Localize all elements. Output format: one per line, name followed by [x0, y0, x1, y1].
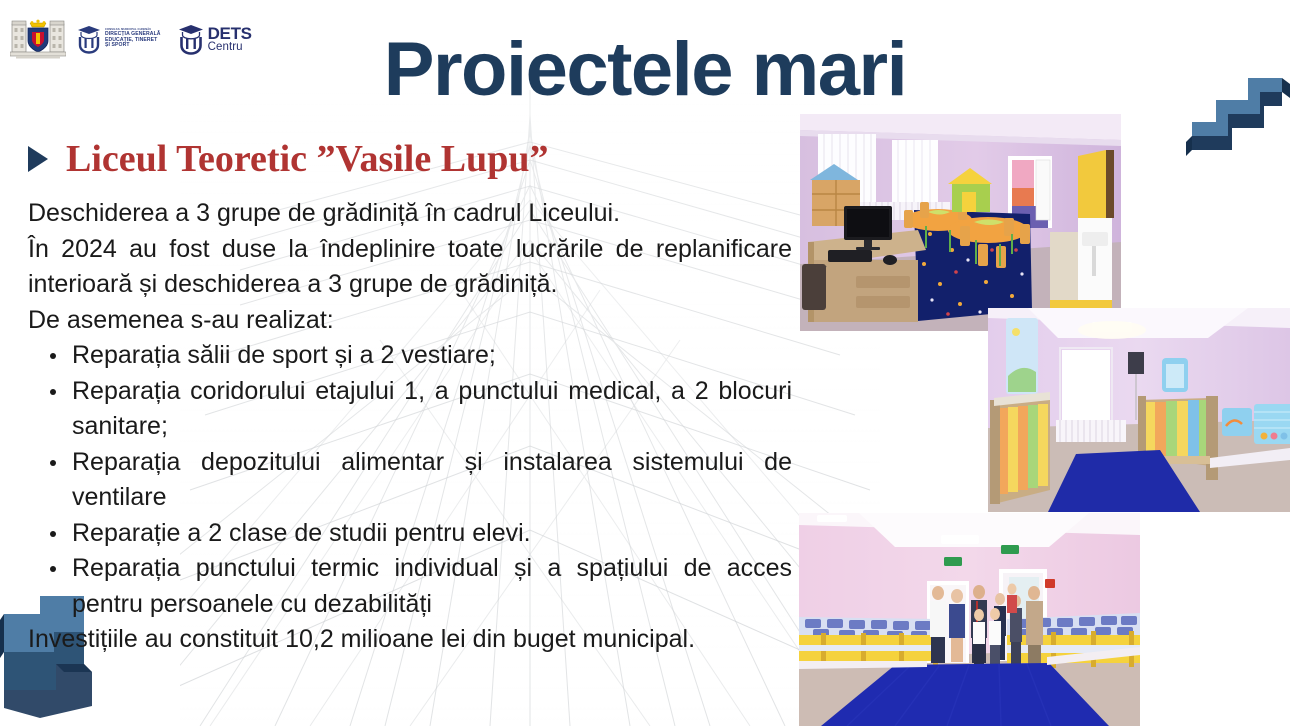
list-item: Reparația coridorului etajului 1, a punc… — [72, 374, 792, 445]
chisinau-coat-of-arms-icon — [10, 18, 66, 60]
photo-kindergarten-dormitory — [799, 513, 1140, 726]
closing-paragraph: Investițiile au constituit 10,2 milioane… — [28, 622, 792, 658]
dets-centru-logo: DETS Centru — [177, 23, 252, 55]
list-item: Reparația sălii de sport și a 2 vestiare… — [72, 338, 792, 374]
section-heading: Liceul Teoretic ”Vasile Lupu” — [28, 140, 548, 178]
dgets-line-4: ȘI SPORT — [105, 43, 161, 49]
list-item: Reparația depozitului alimentar și insta… — [72, 445, 792, 516]
intro-paragraph: Deschiderea a 3 grupe de grădiniță în ca… — [28, 196, 792, 232]
list-item: Reparație a 2 clase de studii pentru ele… — [72, 516, 792, 552]
photo-kindergarten-cloakroom — [988, 308, 1290, 512]
list-lead-paragraph: De asemenea s-au realizat: — [28, 303, 792, 339]
triangle-bullet-icon — [28, 146, 48, 172]
section-heading-label: Liceul Teoretic ”Vasile Lupu” — [66, 140, 548, 178]
photo-kindergarten-classroom — [800, 114, 1121, 331]
works-list: Reparația sălii de sport și a 2 vestiare… — [28, 338, 792, 622]
dgets-graduation-cap-icon — [76, 24, 102, 54]
presentation-slide: CONSILIUL MUNICIPAL CHIȘINĂU DIRECȚIA GE… — [0, 0, 1290, 726]
body-content: Deschiderea a 3 grupe de grădiniță în ca… — [28, 196, 792, 658]
dets-title: DETS — [208, 25, 252, 42]
paragraph-2: În 2024 au fost duse la îndeplinire toat… — [28, 232, 792, 303]
logo-bar: CONSILIUL MUNICIPAL CHIȘINĂU DIRECȚIA GE… — [10, 16, 252, 62]
list-item: Reparația punctului termic individual și… — [72, 551, 792, 622]
dgets-logo: CONSILIUL MUNICIPAL CHIȘINĂU DIRECȚIA GE… — [76, 24, 161, 54]
dets-graduation-cap-icon — [177, 23, 205, 55]
dets-subtitle: Centru — [208, 42, 252, 54]
